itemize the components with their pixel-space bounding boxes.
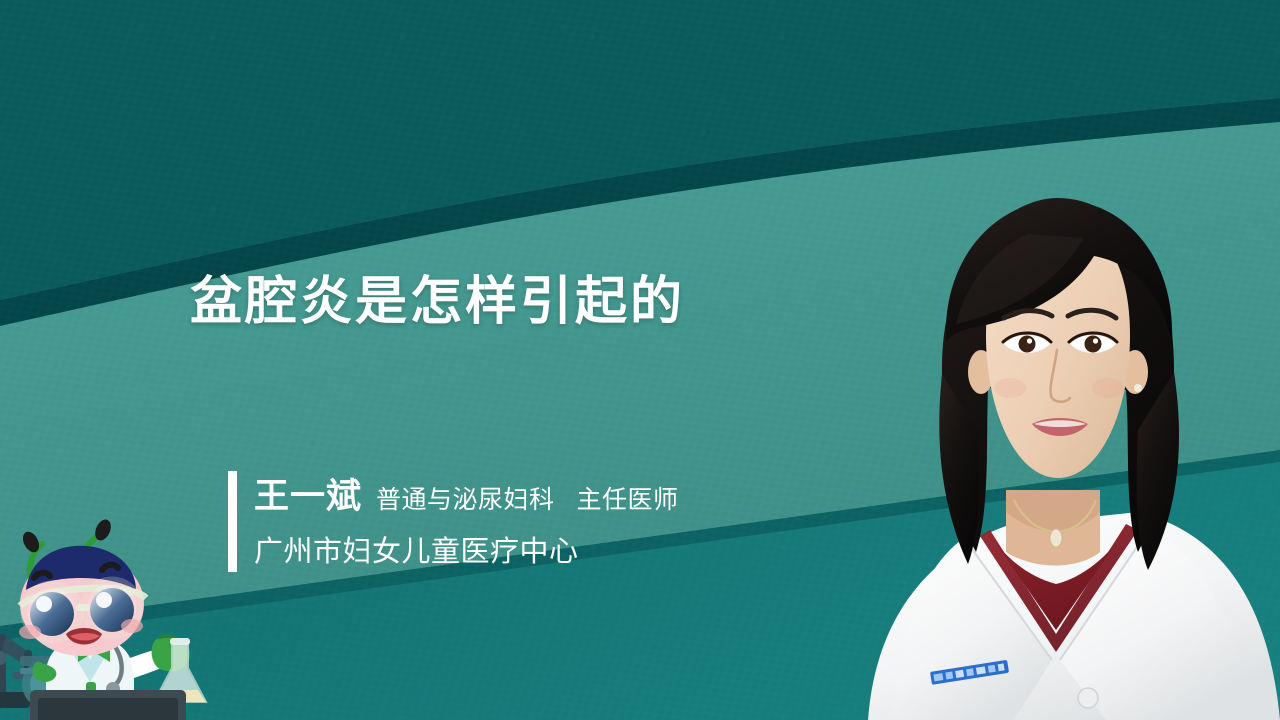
byline-primary-row: 王一斌 普通与泌尿妇科 主任医师: [254, 468, 679, 516]
accent-bar: [228, 471, 237, 572]
byline-block: 王一斌 普通与泌尿妇科 主任医师 广州市妇女儿童医疗中心: [228, 468, 679, 570]
doctor-department: 普通与泌尿妇科: [376, 480, 555, 516]
doctor-rank: 主任医师: [577, 480, 679, 516]
coat-button: [1078, 688, 1098, 708]
slide-canvas: 盆腔炎是怎样引起的 王一斌 普通与泌尿妇科 主任医师 广州市妇女儿童医疗中心: [0, 0, 1280, 720]
doctor-hospital: 广州市妇女儿童医疗中心: [254, 528, 679, 570]
eye-right: [1085, 336, 1102, 353]
mascot-scientist: [0, 486, 230, 720]
page-title: 盆腔炎是怎样引起的: [190, 276, 685, 328]
doctor-portrait: [838, 160, 1280, 720]
eye-left: [1019, 336, 1036, 353]
doctor-name: 王一斌: [254, 468, 362, 519]
earring: [1134, 384, 1142, 392]
